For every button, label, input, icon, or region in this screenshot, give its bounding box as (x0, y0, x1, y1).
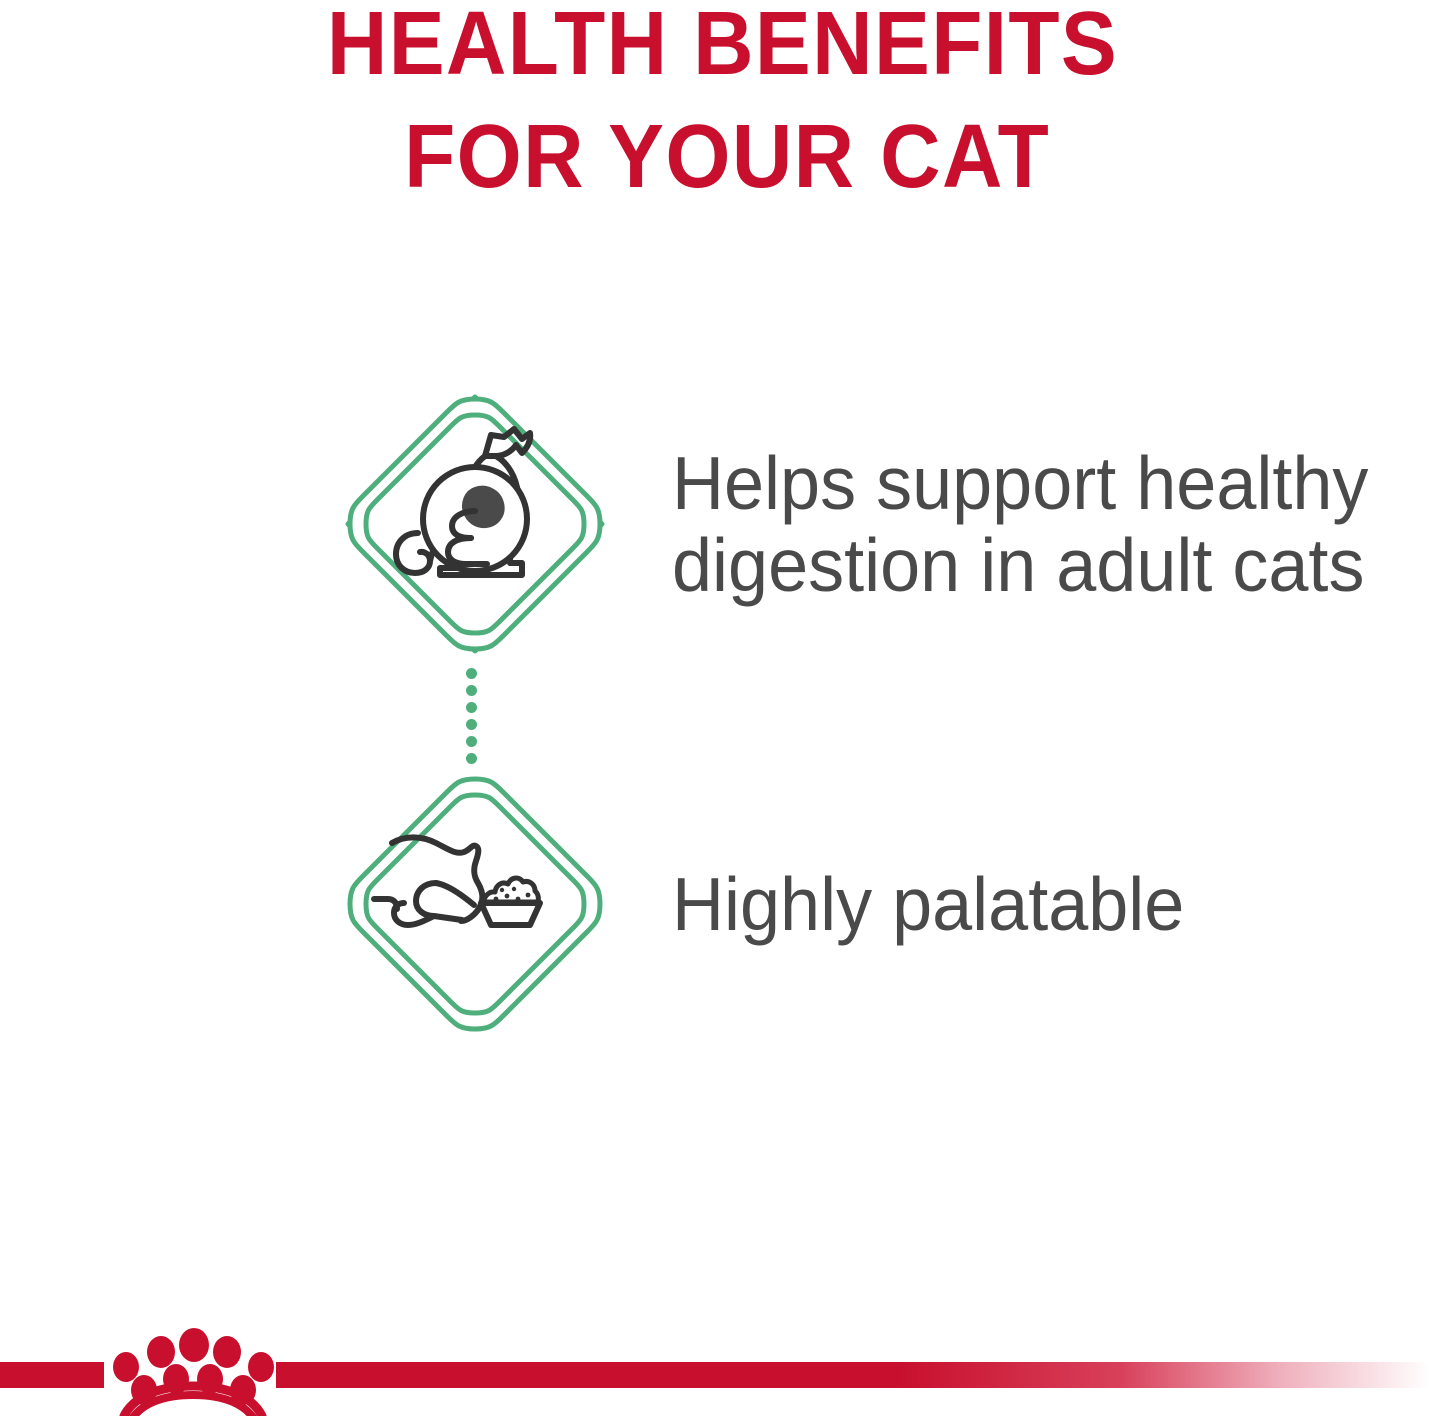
cat-digestion-icon (344, 393, 606, 655)
connector-dot (466, 685, 477, 696)
connector-dot (466, 736, 477, 747)
connector-dot (466, 753, 477, 764)
dotted-connector (466, 668, 478, 764)
health-benefits-panel: HEALTH BENEFITS FOR YOUR CAT (0, 0, 1445, 1417)
benefit-label: Highly palatable (672, 863, 1402, 945)
page-title: HEALTH BENEFITS FOR YOUR CAT (0, 0, 1445, 214)
benefit-item: Helps support healthy digestion in adult… (344, 393, 1432, 655)
page-title-line-2: FOR YOUR CAT (51, 101, 1395, 214)
connector-dot (466, 668, 477, 679)
page-title-line-1: HEALTH BENEFITS (51, 0, 1395, 101)
royal-canin-crown-logo (104, 1324, 280, 1416)
connector-dot (466, 702, 477, 713)
footer (0, 1362, 1445, 1417)
cat-eating-bowl-icon (344, 773, 606, 1035)
benefit-item: Highly palatable (344, 773, 1432, 1035)
connector-dot (466, 719, 477, 730)
benefit-label: Helps support healthy digestion in adult… (672, 442, 1402, 606)
